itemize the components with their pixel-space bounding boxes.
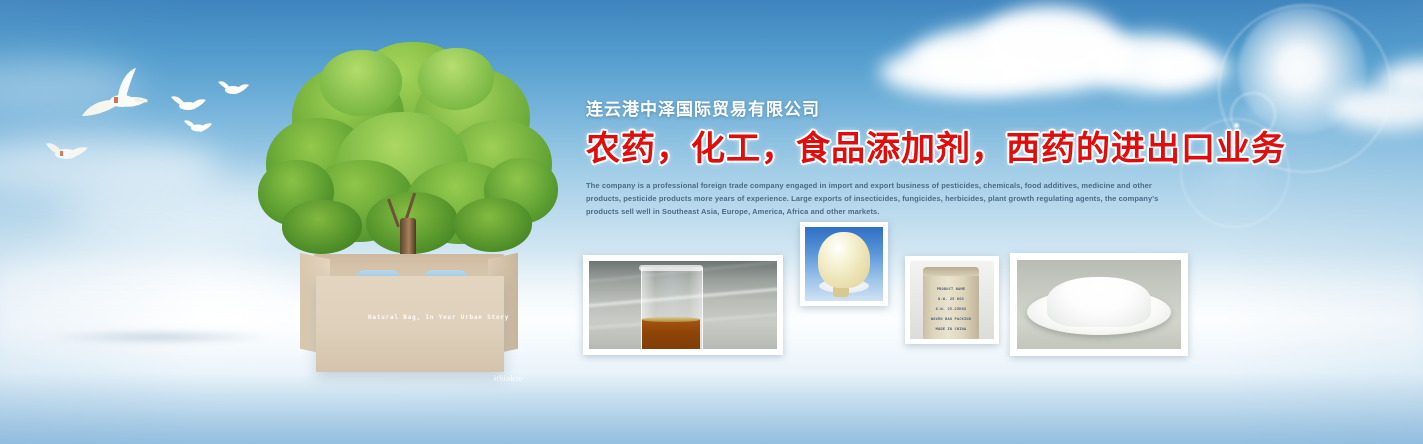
cloud-shape (1090, 34, 1210, 92)
company-description: The company is a professional foreign tr… (586, 180, 1174, 219)
sack-label-line-3: G.W. 25.25KGS (927, 307, 975, 311)
cloud-wisp (0, 250, 290, 340)
product-photo-white-powder[interactable] (1010, 253, 1188, 356)
box-brand-logo: ithinkso (494, 374, 523, 383)
sky-layer (0, 0, 1423, 444)
product-photo-woven-sack[interactable]: PRODUCT NAME N.W. 25 KGS G.W. 25.25KGS W… (905, 256, 999, 344)
sack-label-line-1: PRODUCT NAME (927, 287, 975, 291)
cloud-wisp (0, 136, 220, 196)
company-name: 连云港中泽国际贸易有限公司 (586, 100, 1186, 120)
cloud-shape (880, 48, 1040, 96)
cardboard-box: Natural Bag, In Your Urban Story ithinks… (300, 254, 518, 374)
box-ground-shadow (46, 330, 272, 344)
dove-lower-left (42, 136, 90, 170)
copy-block: 连云港中泽国际贸易有限公司 农药，化工，食品添加剂，西药的进出口业务 The c… (586, 100, 1186, 219)
product-photo-yellow-powder-image (805, 227, 883, 301)
tree-in-box-graphic: Natural Bag, In Your Urban Story ithinks… (258, 42, 558, 372)
headline: 农药，化工，食品添加剂，西药的进出口业务 (586, 130, 1186, 168)
promo-banner: Natural Bag, In Your Urban Story ithinks… (0, 0, 1423, 444)
product-photo-white-powder-image (1017, 260, 1181, 349)
box-slogan: Natural Bag, In Your Urban Story (368, 314, 509, 321)
product-photo-woven-sack-image: PRODUCT NAME N.W. 25 KGS G.W. 25.25KGS W… (910, 261, 994, 339)
lens-flare-dot-1 (1234, 123, 1239, 128)
dove-right-upper (216, 76, 250, 102)
product-photo-yellow-powder[interactable] (800, 222, 888, 306)
cloud-shape (1140, 48, 1230, 88)
product-photo-brown-liquid-image (589, 261, 777, 349)
dove-right-lower (182, 115, 214, 139)
box-front-panel: Natural Bag, In Your Urban Story ithinks… (316, 276, 504, 372)
dove-large (78, 66, 170, 128)
sack-label-line-5: MADE IN CHINA (927, 327, 975, 331)
sun-icon (1238, 6, 1366, 134)
cloud-shape (1380, 60, 1423, 100)
cloud-shape (1330, 86, 1423, 130)
edge-vignette (0, 0, 1423, 444)
product-photo-brown-liquid[interactable] (583, 255, 783, 355)
sack-label-line-4: WOVEN BAG PACKING (927, 317, 975, 321)
cloud-shape (910, 22, 1140, 94)
cloud-shape (980, 6, 1120, 80)
sack-label-line-2: N.W. 25 KGS (927, 297, 975, 301)
